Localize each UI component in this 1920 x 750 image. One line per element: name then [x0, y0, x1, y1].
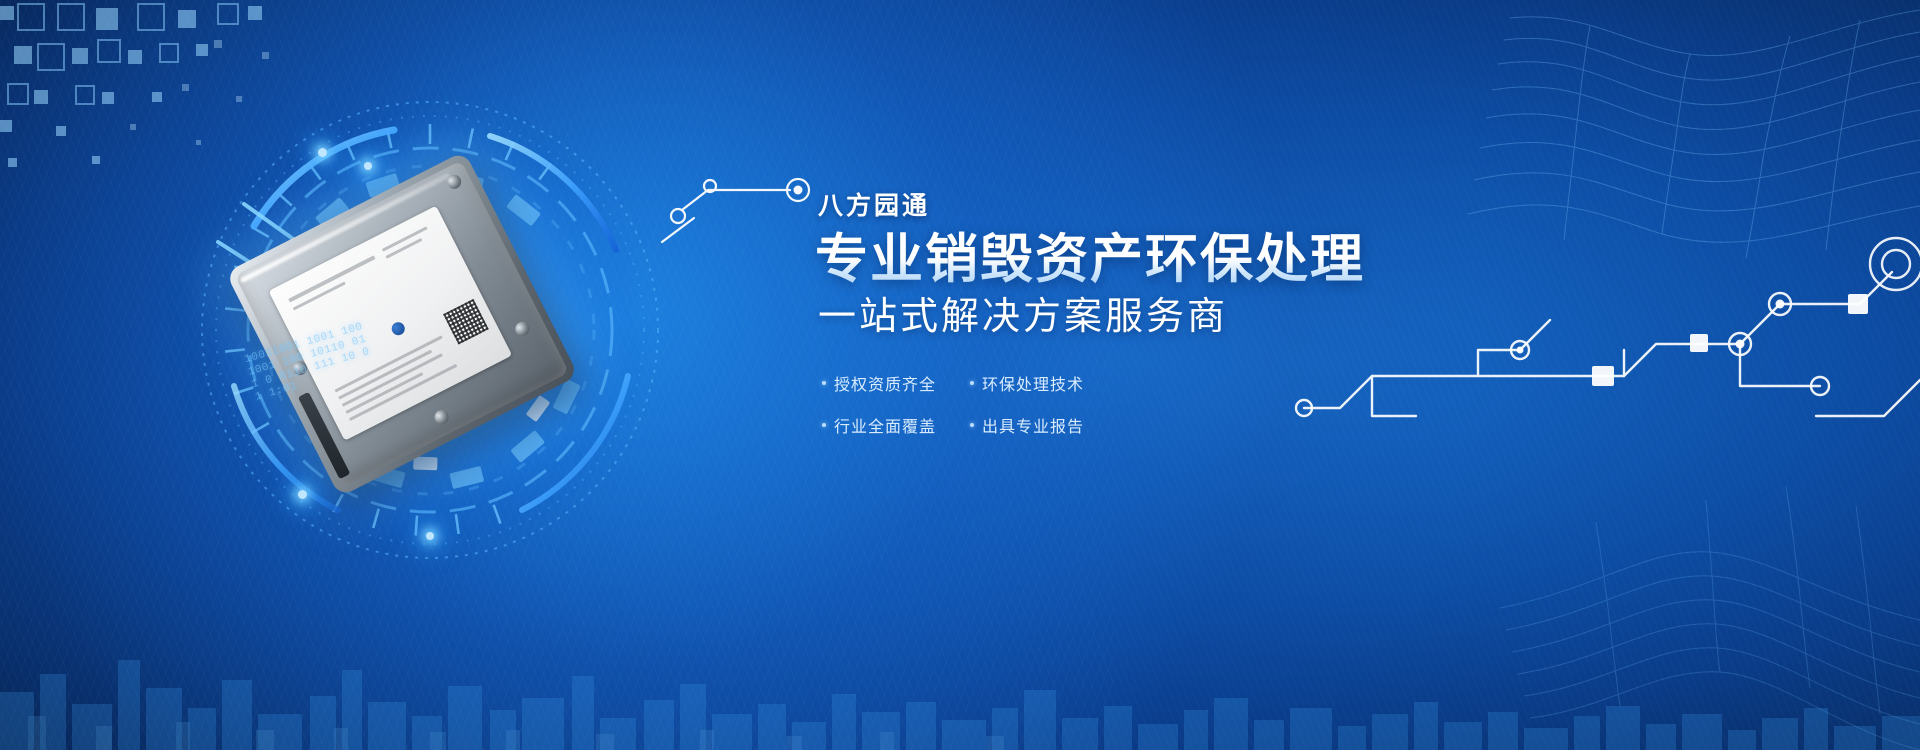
feature-label: 行业全面覆盖 [834, 413, 936, 437]
bullet-dot-icon [822, 423, 826, 427]
glow-spark [426, 532, 434, 540]
subheadline: 一站式解决方案服务商 [818, 295, 1516, 341]
brand-name: 八方园通 [818, 186, 1516, 222]
feature-label: 授权资质齐全 [834, 371, 936, 395]
glow-spark [298, 490, 307, 499]
city-skyline-decoration [0, 630, 1920, 750]
feature-item: 授权资质齐全 [822, 371, 952, 395]
feature-label: 环保处理技术 [982, 371, 1084, 395]
feature-item: 出具专业报告 [970, 413, 1110, 437]
feature-label: 出具专业报告 [982, 413, 1084, 437]
glow-spark [318, 148, 327, 157]
hdd-label-dot [389, 320, 406, 337]
feature-list: 授权资质齐全 环保处理技术 行业全面覆盖 出具专业报告 [822, 371, 1516, 437]
bullet-dot-icon [970, 423, 974, 427]
promo-banner: 10011001 1001 100 1001 100 10110 01 1 0 … [0, 0, 1920, 750]
feature-item: 环保处理技术 [970, 371, 1110, 395]
glow-spark [364, 162, 372, 170]
feature-item: 行业全面覆盖 [822, 413, 952, 437]
wire-mesh-decoration-bottom [1400, 450, 1920, 750]
bullet-dot-icon [822, 381, 826, 385]
hero-graphic [150, 90, 710, 570]
headline: 专业销毁资产环保处理 [815, 230, 1516, 289]
banner-copy: 八方园通 专业销毁资产环保处理 一站式解决方案服务商 授权资质齐全 环保处理技术… [816, 186, 1516, 437]
hdd-barcode [443, 299, 489, 345]
bullet-dot-icon [970, 381, 974, 385]
